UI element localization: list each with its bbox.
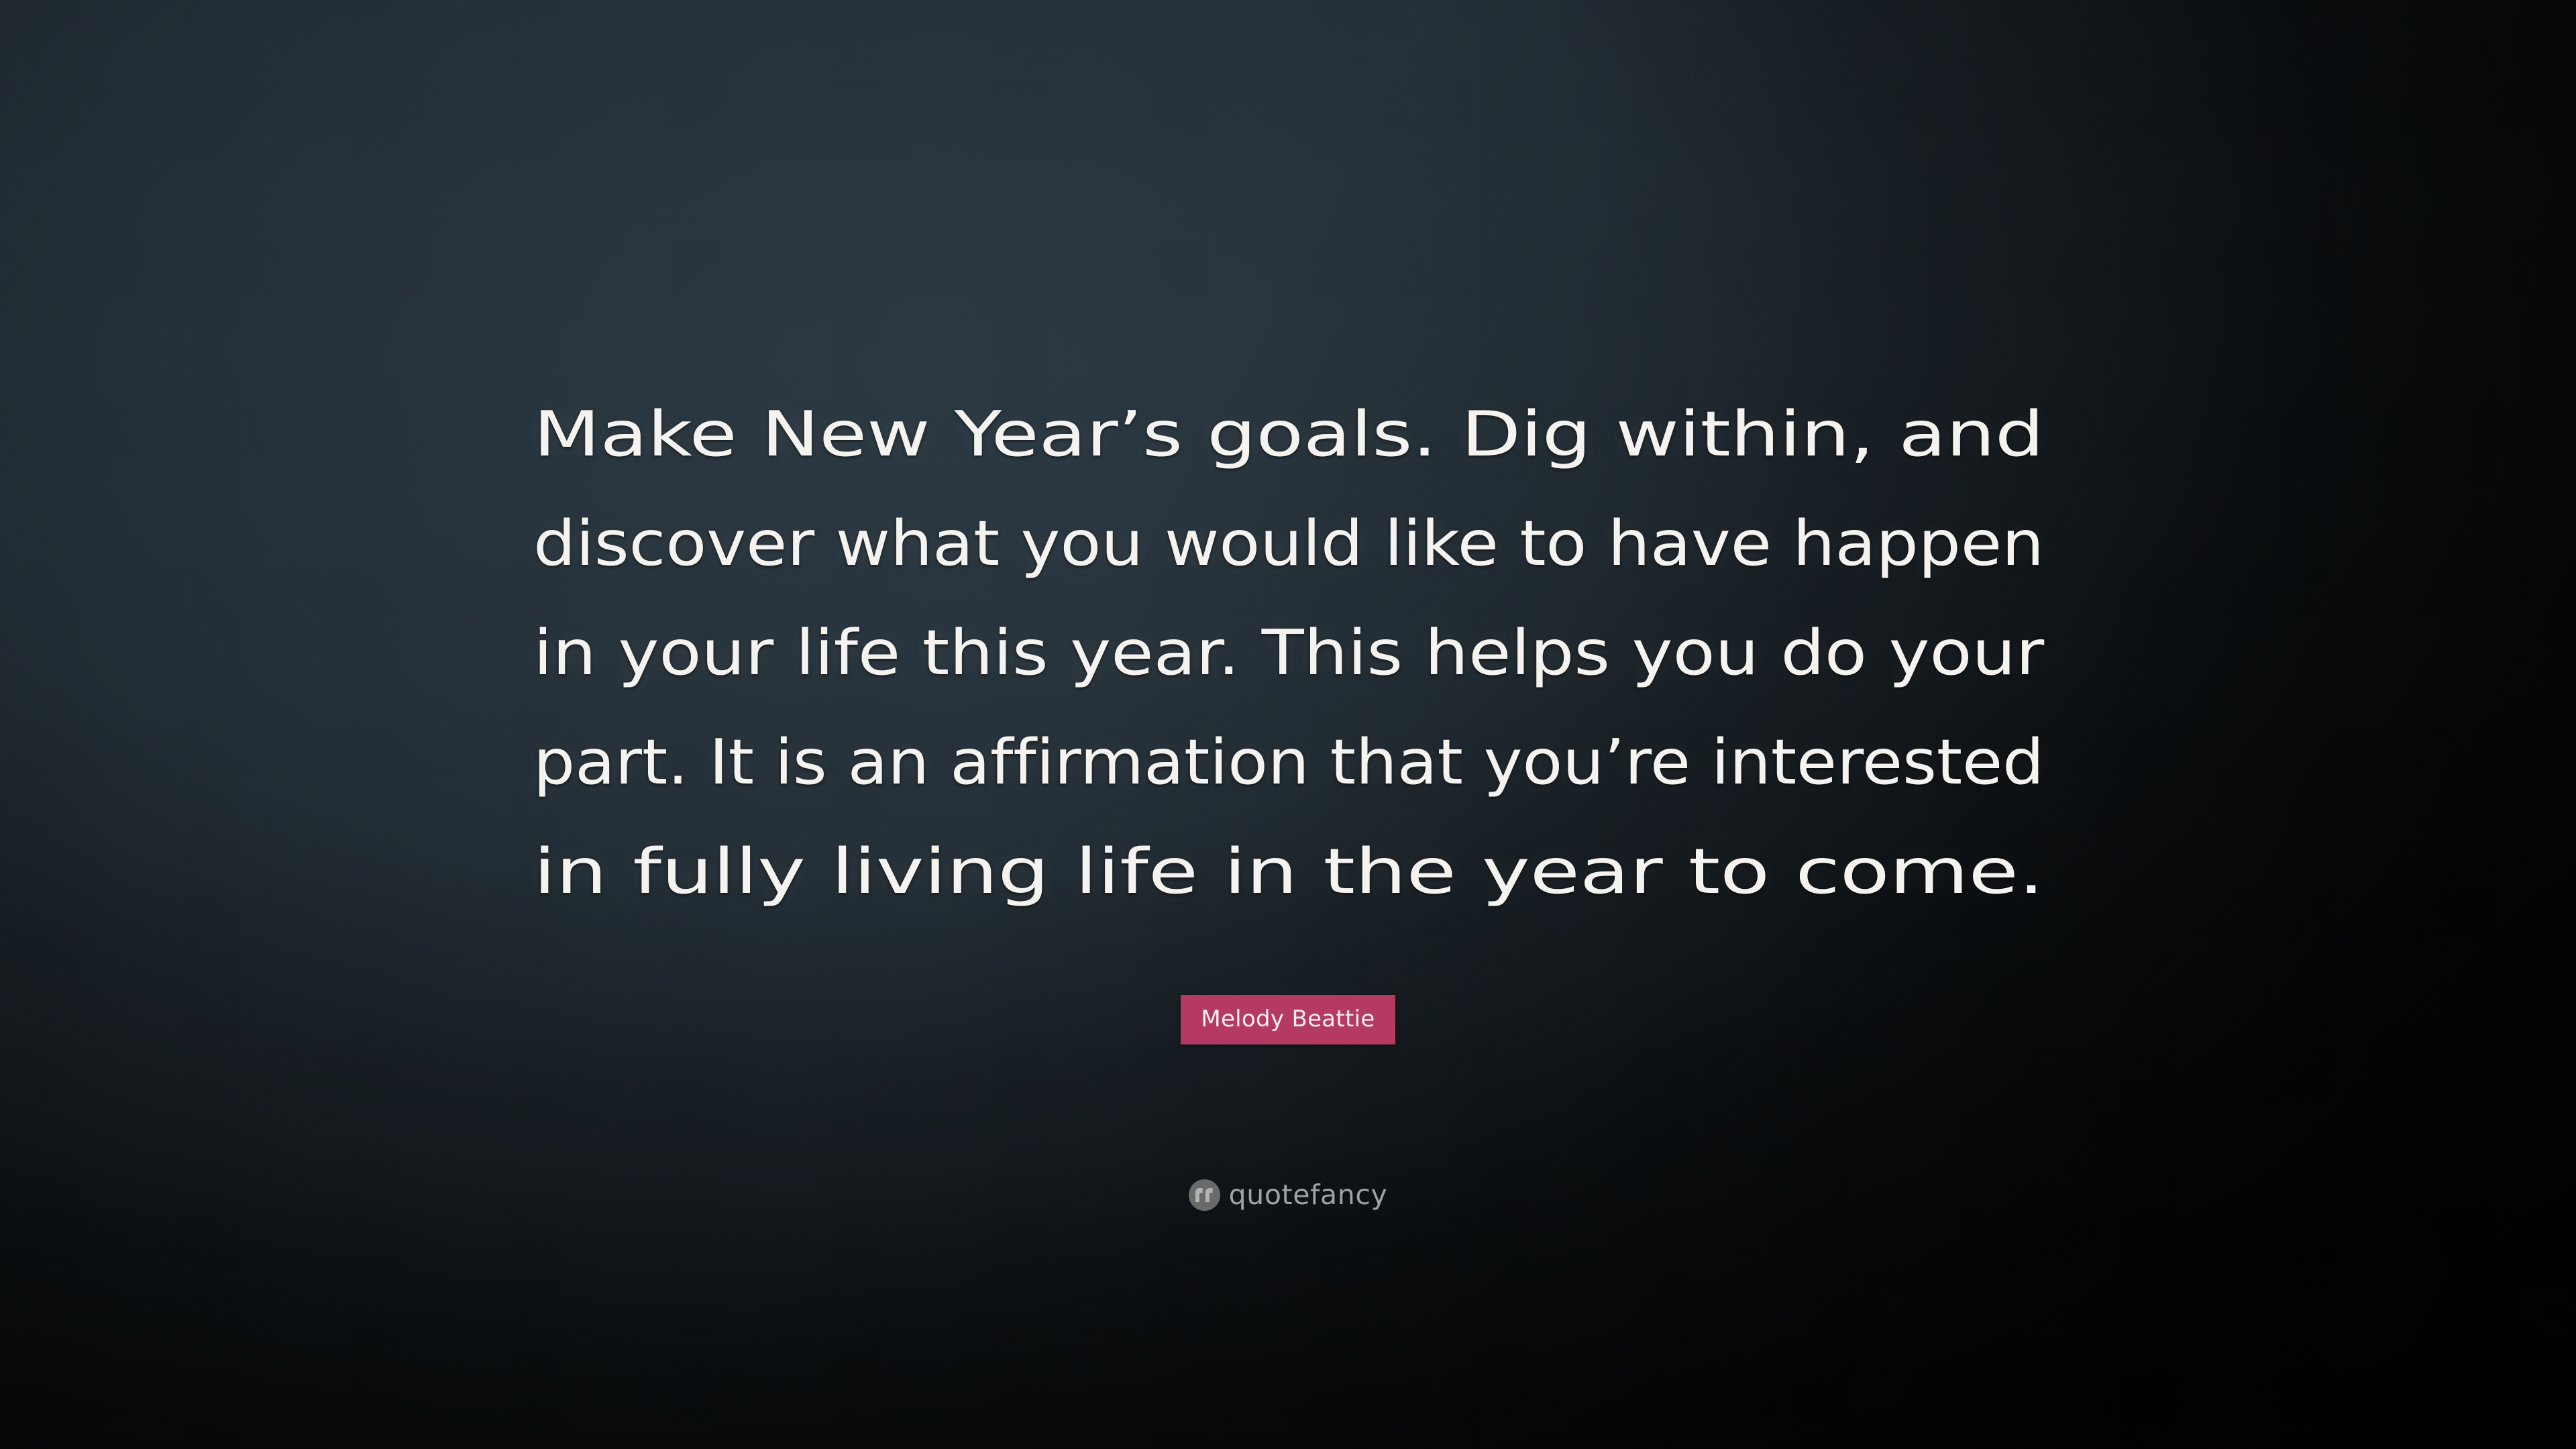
quote-line: part. It is an affirmation that you’re i… — [533, 708, 2044, 817]
quote-poster: Make New Year’s goals. Dig within, and d… — [0, 0, 2576, 1449]
quote-line: discover what you would like to have hap… — [533, 489, 2044, 598]
quote-text-block: Make New Year’s goals. Dig within, and d… — [533, 380, 2044, 926]
author-attribution: Melody Beattie — [0, 995, 2576, 1044]
quote-line-text: Make New Year’s goals. Dig within, and — [533, 380, 2044, 489]
quote-mark-icon — [1189, 1179, 1220, 1211]
quote-line-text: discover what you would like to have hap… — [533, 489, 2044, 598]
poster-content: Make New Year’s goals. Dig within, and d… — [0, 0, 2576, 1449]
quote-line-text: part. It is an affirmation that you’re i… — [533, 708, 2044, 817]
quote-line-text: in fully living life in the year to come… — [533, 817, 2044, 926]
author-name-badge[interactable]: Melody Beattie — [1181, 995, 1395, 1044]
quote-line: in your life this year. This helps you d… — [533, 598, 2044, 708]
brand-watermark[interactable]: quotefancy — [0, 1179, 2576, 1211]
quote-line: Make New Year’s goals. Dig within, and — [533, 380, 2044, 489]
quote-line: in fully living life in the year to come… — [533, 817, 2044, 926]
quote-line-text: in your life this year. This helps you d… — [533, 598, 2044, 708]
brand-name: quotefancy — [1229, 1181, 1388, 1209]
